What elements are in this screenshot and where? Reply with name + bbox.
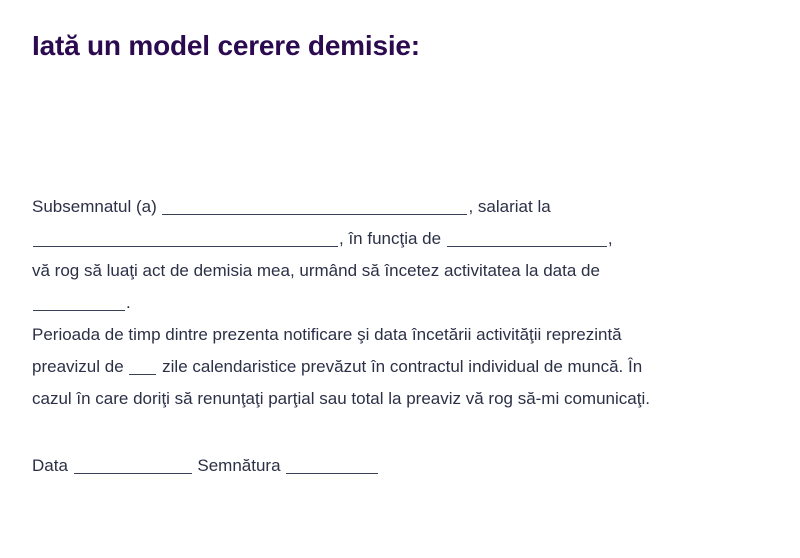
signature-label: Semnătura xyxy=(197,456,280,475)
blank-name-field[interactable] xyxy=(162,201,467,215)
text-salariat-la: , salariat la xyxy=(468,197,550,216)
paragraph-line-7: cazul în care doriţi să renunţaţi parţia… xyxy=(32,383,772,415)
paragraph-line-4: . xyxy=(32,287,772,319)
date-label: Data xyxy=(32,456,68,475)
text-renuntare-preaviz: cazul în care doriţi să renunţaţi parţia… xyxy=(32,389,650,408)
text-in-functia-de: , în funcţia de xyxy=(339,229,441,248)
text-subsemnatul: Subsemnatul (a) xyxy=(32,197,157,216)
paragraph-line-3: vă rog să luaţi act de demisia mea, urmâ… xyxy=(32,255,772,287)
text-zile-calendaristice: zile calendaristice prevăzut în contract… xyxy=(162,357,642,376)
text-line2-comma: , xyxy=(608,229,613,248)
paragraph-line-2: , în funcţia de , xyxy=(32,223,772,255)
text-demisie-sentence: vă rog să luaţi act de demisia mea, urmâ… xyxy=(32,261,600,280)
blank-end-date-field[interactable] xyxy=(33,297,125,311)
paragraph-line-1: Subsemnatul (a) , salariat la xyxy=(32,191,772,223)
text-line4-period: . xyxy=(126,293,131,312)
page-title: Iată un model cerere demisie: xyxy=(32,29,420,63)
paragraph-line-5: Perioada de timp dintre prezenta notific… xyxy=(32,319,772,351)
paragraph-line-6: preavizul de zile calendaristice prevăzu… xyxy=(32,351,772,383)
text-perioada-sentence: Perioada de timp dintre prezenta notific… xyxy=(32,325,622,344)
blank-employer-field[interactable] xyxy=(33,233,338,247)
blank-position-field[interactable] xyxy=(447,233,607,247)
letter-body: Subsemnatul (a) , salariat la , în funcţ… xyxy=(32,191,772,415)
signature-row: Data Semnătura xyxy=(32,450,379,482)
text-preavizul-de: preavizul de xyxy=(32,357,124,376)
blank-date-field[interactable] xyxy=(74,460,192,474)
document-page: Iată un model cerere demisie: Subsemnatu… xyxy=(0,0,800,558)
blank-signature-field[interactable] xyxy=(286,460,378,474)
blank-notice-days-field[interactable] xyxy=(129,361,156,375)
